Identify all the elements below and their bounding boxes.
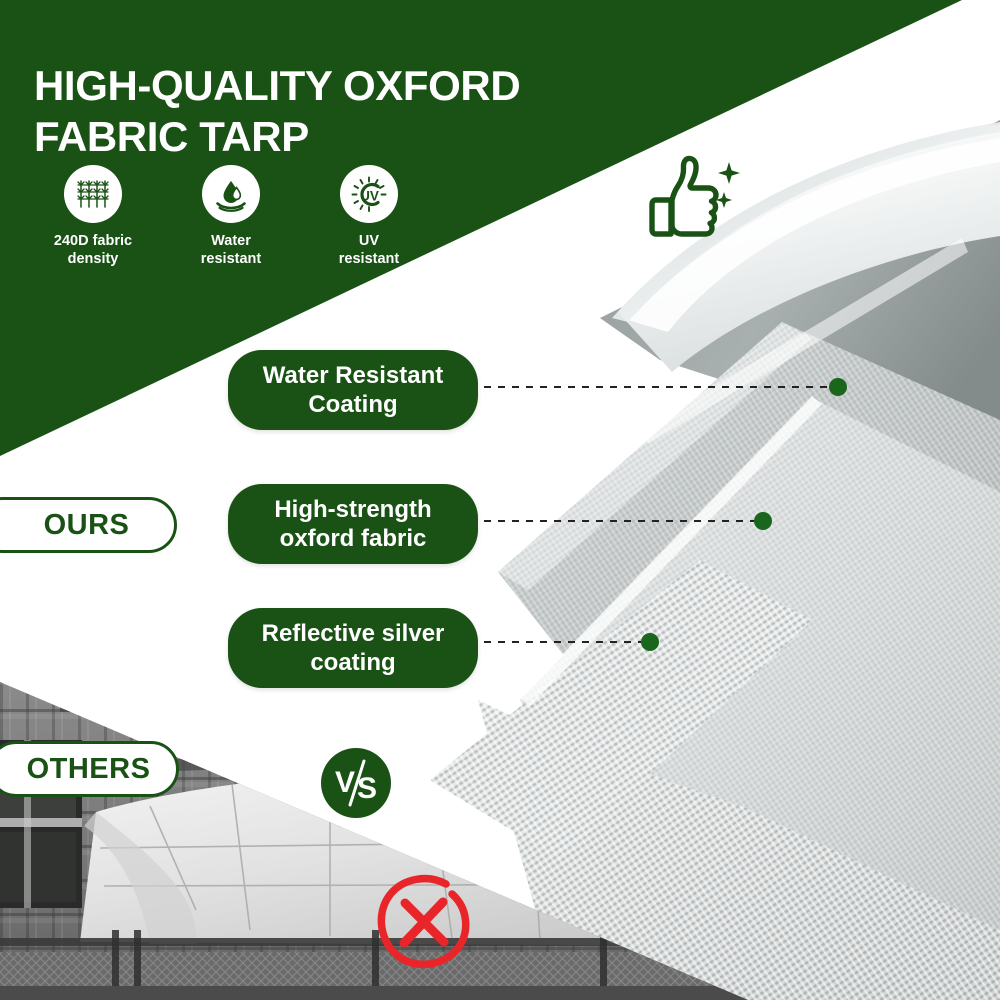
callout-water-resistant-coating[interactable]: Water Resistant Coating (228, 350, 478, 430)
red-circle-x-icon (372, 872, 476, 981)
badge-others: OTHERS (0, 741, 179, 797)
product-infographic: HIGH-QUALITY OXFORD FABRIC TARP (0, 0, 1000, 1000)
callout-dot (829, 378, 847, 396)
vs-badge: V S (321, 748, 391, 818)
callout-high-strength-oxford[interactable]: High-strength oxford fabric (228, 484, 478, 564)
callout-dot (754, 512, 772, 530)
callout-reflective-silver[interactable]: Reflective silver coating (228, 608, 478, 688)
badge-ours: OURS (0, 497, 177, 553)
callout-dot (641, 633, 659, 651)
